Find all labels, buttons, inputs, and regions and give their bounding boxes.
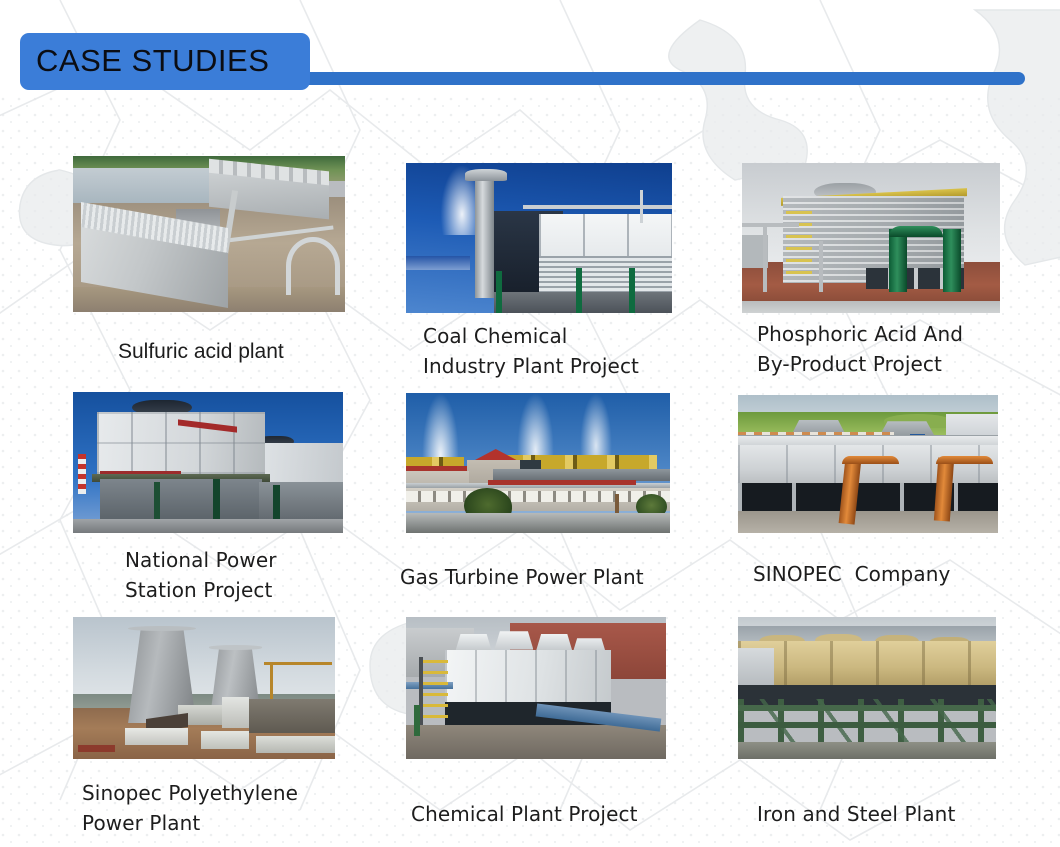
iron-and-steel-plant-photo <box>738 617 996 759</box>
page-header: CASE STUDIES <box>0 0 1060 120</box>
case-caption: Coal Chemical Industry Plant Project <box>423 321 693 381</box>
case-caption: Gas Turbine Power Plant <box>400 562 680 592</box>
sinopec-polyethylene-power-plant-photo <box>73 617 335 759</box>
national-power-station-photo <box>73 392 343 533</box>
coal-chemical-industry-plant-photo <box>406 163 672 313</box>
case-caption: Iron and Steel Plant <box>757 799 1027 829</box>
chemical-plant-project-photo <box>406 617 666 759</box>
case-studies-grid: Sulfuric acid plant Coal Chemical Indust… <box>0 0 1060 847</box>
sinopec-company-photo <box>738 395 998 533</box>
page-title: CASE STUDIES <box>36 41 269 81</box>
case-caption: Sulfuric acid plant <box>118 337 378 367</box>
case-caption: National Power Station Project <box>125 545 375 605</box>
case-caption: SINOPEC Company <box>753 559 1023 589</box>
gas-turbine-power-plant-photo <box>406 393 670 533</box>
phosphoric-acid-by-product-photo <box>742 163 1000 313</box>
case-caption: Phosphoric Acid And By-Product Project <box>757 319 1022 379</box>
case-caption: Chemical Plant Project <box>411 799 691 829</box>
sulfuric-acid-plant-photo <box>73 156 345 312</box>
case-caption: Sinopec Polyethylene Power Plant <box>82 778 367 838</box>
